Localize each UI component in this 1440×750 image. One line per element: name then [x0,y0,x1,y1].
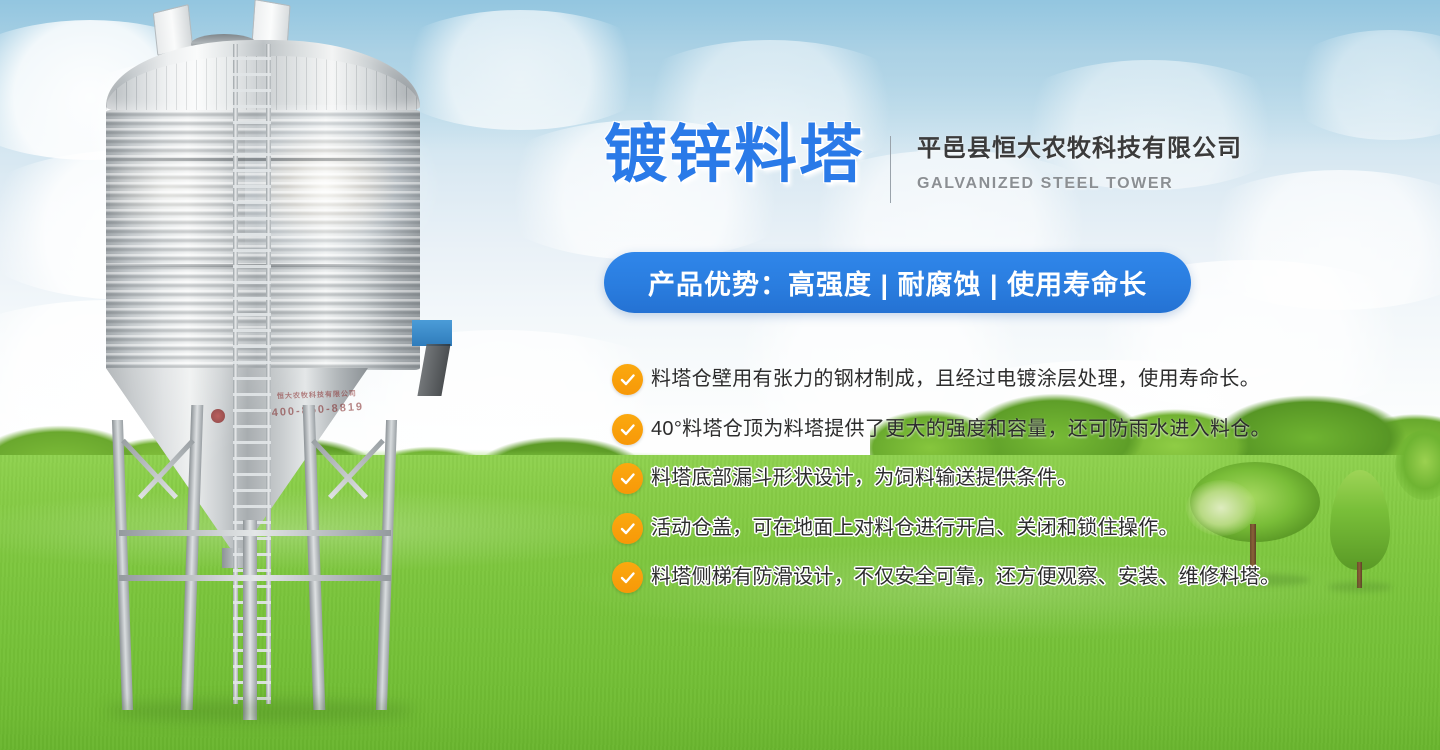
feature-item: 料塔侧梯有防滑设计，不仅安全可靠，还方便观察、安装、维修料塔。 [612,562,1280,612]
check-icon [612,414,643,445]
feature-item: 料塔仓壁用有张力的钢材制成，且经过电镀涂层处理，使用寿命长。 [612,364,1280,414]
company-name-en: GALVANIZED STEEL TOWER [917,175,1242,193]
product-advantages-badge: 产品优势：高强度 | 耐腐蚀 | 使用寿命长 [604,252,1191,313]
product-advantages-text: 产品优势：高强度 | 耐腐蚀 | 使用寿命长 [648,263,1147,302]
check-icon [612,463,643,494]
feature-item: 40°料塔仓顶为料塔提供了更大的强度和容量，还可防雨水进入料仓。 [612,414,1280,464]
check-icon [612,562,643,593]
feature-text: 40°料塔仓顶为料塔提供了更大的强度和容量，还可防雨水进入料仓。 [651,414,1271,445]
title-row: 镀锌料塔 平邑县恒大农牧科技有限公司 GALVANIZED STEEL TOWE… [604,122,1242,203]
hero-banner: 恒大农牧科技有限公司 400-850-8819 [0,0,1440,750]
feature-list: 料塔仓壁用有张力的钢材制成，且经过电镀涂层处理，使用寿命长。 40°料塔仓顶为料… [612,364,1280,612]
feature-text: 料塔底部漏斗形状设计，为饲料输送提供条件。 [651,463,1077,494]
title-divider [890,136,891,203]
check-icon [612,513,643,544]
feature-item: 料塔底部漏斗形状设计，为饲料输送提供条件。 [612,463,1280,513]
feature-text: 料塔侧梯有防滑设计，不仅安全可靠，还方便观察、安装、维修料塔。 [651,562,1280,593]
company-name: 平邑县恒大农牧科技有限公司 [917,134,1242,164]
check-icon [612,364,643,395]
page-title: 镀锌料塔 [604,122,864,187]
company-block: 平邑县恒大农牧科技有限公司 GALVANIZED STEEL TOWER [917,122,1242,193]
feature-text: 活动仓盖，可在地面上对料仓进行开启、关闭和锁住操作。 [651,513,1179,544]
feature-text: 料塔仓壁用有张力的钢材制成，且经过电镀涂层处理，使用寿命长。 [651,364,1260,395]
feature-item: 活动仓盖，可在地面上对料仓进行开启、关闭和锁住操作。 [612,513,1280,563]
